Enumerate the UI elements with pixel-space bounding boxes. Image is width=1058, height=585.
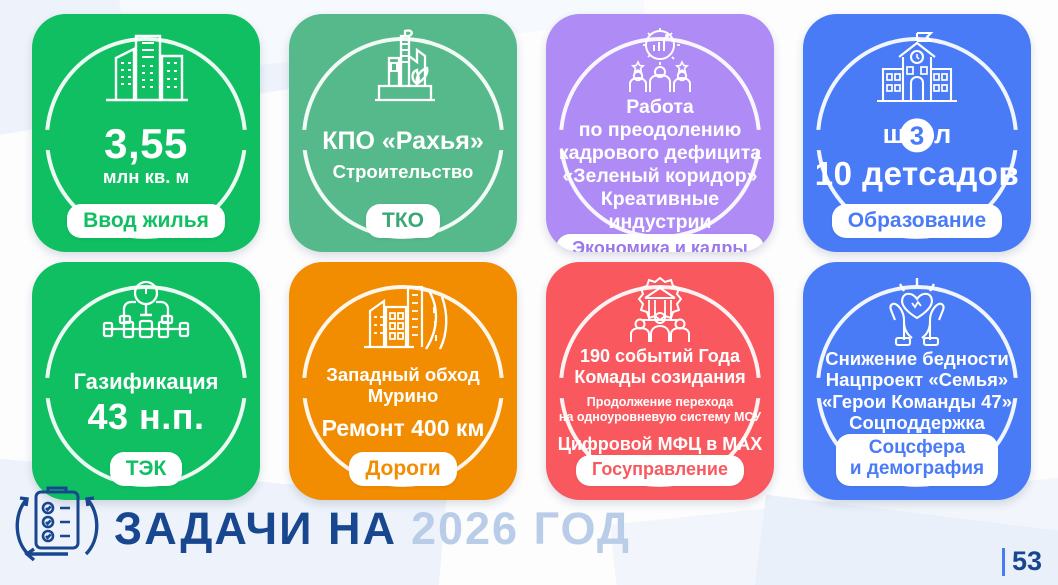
waste-title: КПО «Рахья» (322, 127, 484, 155)
roads-title: Западный обход Мурино (297, 364, 509, 407)
badge-economy[interactable]: Экономика и кадры (556, 234, 763, 252)
page-number-block: 53 (1002, 546, 1042, 577)
card-gas[interactable]: Газификация 43 н.п. ТЭК (32, 262, 260, 500)
education-kindergartens: 10 детсадов (815, 157, 1019, 191)
badge-education[interactable]: Образование (832, 204, 1002, 238)
page-number-bar (1002, 548, 1005, 576)
page-number: 53 (1012, 546, 1042, 577)
city-road-icon (354, 276, 452, 354)
governance-line-2: Комады созидания (574, 367, 745, 388)
social-line-1: Снижение бедности (825, 348, 1008, 369)
footer: ЗАДАЧИ НА 2026 ГОД (10, 478, 631, 579)
badge-social-line-2: и демография (850, 458, 984, 479)
school-building-icon (869, 28, 965, 106)
card-governance[interactable]: 190 событий Года Комады созидания Продол… (546, 262, 774, 500)
housing-value: 3,55 (104, 123, 188, 166)
social-line-3: «Герои Команды 47» (822, 391, 1012, 412)
gas-title: Газификация (73, 370, 218, 395)
card-waste[interactable]: КПО «Рахья» Строительство ТКО (289, 14, 517, 252)
waste-processing-plant-icon (355, 28, 451, 106)
governance-line-5: Цифровой МФЦ в MAX (558, 434, 762, 455)
card-economy[interactable]: Работа по преодолению кадрового дефицита… (546, 14, 774, 252)
card-social[interactable]: Снижение бедности Нацпроект «Семья» «Гер… (803, 262, 1031, 500)
card-roads[interactable]: Западный обход Мурино Ремонт 400 км Доро… (289, 262, 517, 500)
badge-social[interactable]: Соцсфера и демография (836, 434, 998, 486)
government-gear-people-icon (615, 276, 705, 346)
card-housing[interactable]: 3,55 млн кв. м Ввод жилья (32, 14, 260, 252)
badge-housing[interactable]: Ввод жилья (67, 204, 225, 238)
economy-line-3: кадрового дефицита (559, 142, 761, 165)
checklist-refresh-icon (10, 478, 106, 579)
gear-people-growth-icon (614, 28, 706, 94)
education-schools-count: 3 (900, 118, 934, 152)
apartment-buildings-icon (98, 28, 194, 106)
governance-line-3: Продолжение перехода (587, 395, 734, 410)
social-line-4: Соцподдержка (849, 412, 985, 433)
social-line-2: Нацпроект «Семья» (826, 369, 1008, 390)
economy-line-2: по преодолению (579, 119, 742, 142)
gas-value: 43 н.п. (87, 399, 204, 436)
badge-waste[interactable]: ТКО (366, 204, 440, 238)
task-cards-grid: 3,55 млн кв. м Ввод жилья (32, 14, 1032, 500)
roads-value: Ремонт 400 км (322, 416, 485, 442)
waste-subtitle: Строительство (333, 161, 474, 182)
economy-line-4: «Зеленый коридор» (562, 165, 757, 188)
governance-line-1: 190 событий Года (580, 346, 740, 367)
footer-title-year: 2026 ГОД (411, 503, 631, 555)
card-education[interactable]: школ 3 10 детсадов Образование (803, 14, 1031, 252)
governance-line-4: на одноуровневую систему МСУ (559, 410, 761, 425)
badge-social-line-1: Соцсфера (869, 437, 965, 458)
economy-line-5: Креативные индустрии (554, 188, 766, 234)
housing-unit: млн кв. м (103, 166, 189, 187)
hands-heart-icon (874, 276, 960, 348)
gas-pipeline-icon (96, 276, 196, 354)
economy-line-1: Работа (626, 96, 693, 119)
footer-title-main: ЗАДАЧИ НА (114, 503, 397, 555)
